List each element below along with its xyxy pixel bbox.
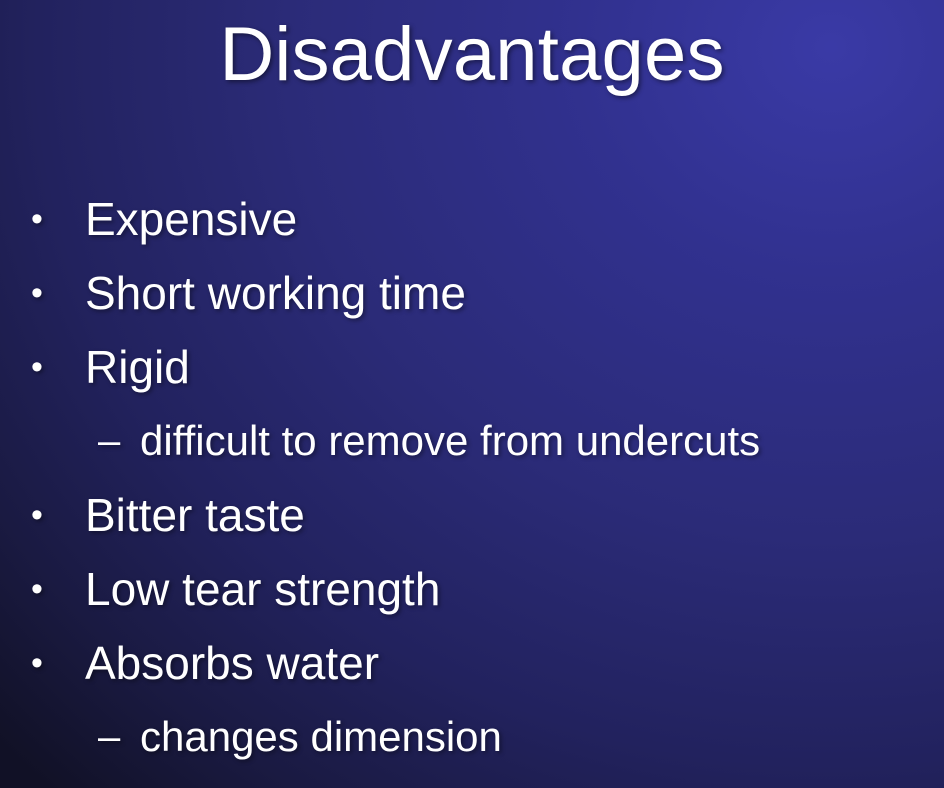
sub-bullet-text: changes dimension xyxy=(140,704,944,770)
bullet-text: Expensive xyxy=(85,186,944,252)
dash-marker-icon: – xyxy=(98,704,140,770)
bullet-text: Absorbs water xyxy=(85,630,944,696)
bullet-text: Low tear strength xyxy=(85,556,944,622)
bullet-text: Rigid xyxy=(85,334,944,400)
bullet-marker-icon: • xyxy=(31,186,85,252)
slide-title: Disadvantages xyxy=(0,14,944,96)
bullet-marker-icon: • xyxy=(31,260,85,326)
bullet-marker-icon: • xyxy=(31,334,85,400)
slide-bullet-list: • Expensive • Short working time • Rigid… xyxy=(0,186,944,778)
presentation-slide: Disadvantages • Expensive • Short workin… xyxy=(0,0,944,788)
bullet-item: • Short working time xyxy=(0,260,944,334)
sub-bullet-item: – difficult to remove from undercuts xyxy=(0,408,944,482)
bullet-text: Short working time xyxy=(85,260,944,326)
bullet-item: • Rigid xyxy=(0,334,944,408)
bullet-item: • Expensive xyxy=(0,186,944,260)
bullet-marker-icon: • xyxy=(31,556,85,622)
bullet-text: Bitter taste xyxy=(85,482,944,548)
bullet-item: • Low tear strength xyxy=(0,556,944,630)
sub-bullet-text: difficult to remove from undercuts xyxy=(140,408,944,474)
bullet-marker-icon: • xyxy=(31,482,85,548)
dash-marker-icon: – xyxy=(98,408,140,474)
sub-bullet-item: – changes dimension xyxy=(0,704,944,778)
bullet-item: • Bitter taste xyxy=(0,482,944,556)
bullet-marker-icon: • xyxy=(31,630,85,696)
bullet-item: • Absorbs water xyxy=(0,630,944,704)
